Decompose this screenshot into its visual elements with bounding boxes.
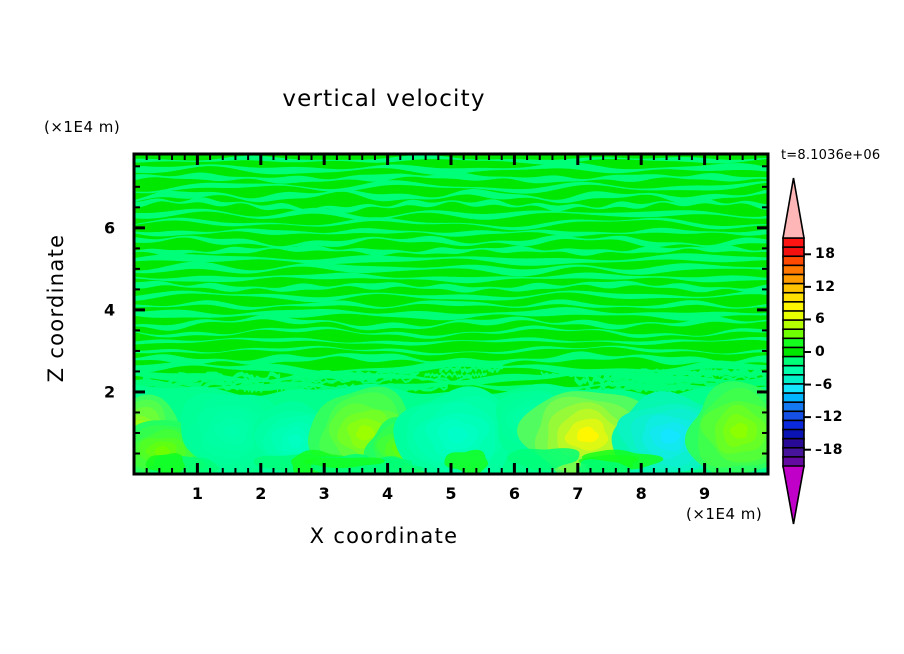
colorbar-tick-label: –18	[815, 442, 843, 458]
colorbar-tick-label: 18	[815, 246, 835, 262]
x-tick-label: 4	[382, 484, 393, 503]
colorbar-tick-label: –6	[815, 377, 833, 393]
contour-field	[0, 0, 904, 654]
y-tick-label: 6	[104, 218, 115, 237]
colorbar-tick-label: 0	[815, 344, 825, 360]
x-tick-label: 7	[572, 484, 583, 503]
plot-canvas: vertical velocity (×1E4 m) (×1E4 m) t=8.…	[0, 0, 904, 654]
colorbar-tick-label: 12	[815, 279, 835, 295]
colorbar-tick-label: 6	[815, 311, 825, 327]
x-tick-label: 3	[319, 484, 330, 503]
x-tick-label: 9	[699, 484, 710, 503]
x-tick-label: 5	[445, 484, 456, 503]
colorbar-tick-label: –12	[815, 409, 843, 425]
y-tick-label: 4	[104, 300, 115, 319]
x-tick-label: 2	[255, 484, 266, 503]
x-tick-label: 8	[636, 484, 647, 503]
y-tick-label: 2	[104, 382, 115, 401]
x-tick-label: 6	[509, 484, 520, 503]
x-tick-label: 1	[192, 484, 203, 503]
